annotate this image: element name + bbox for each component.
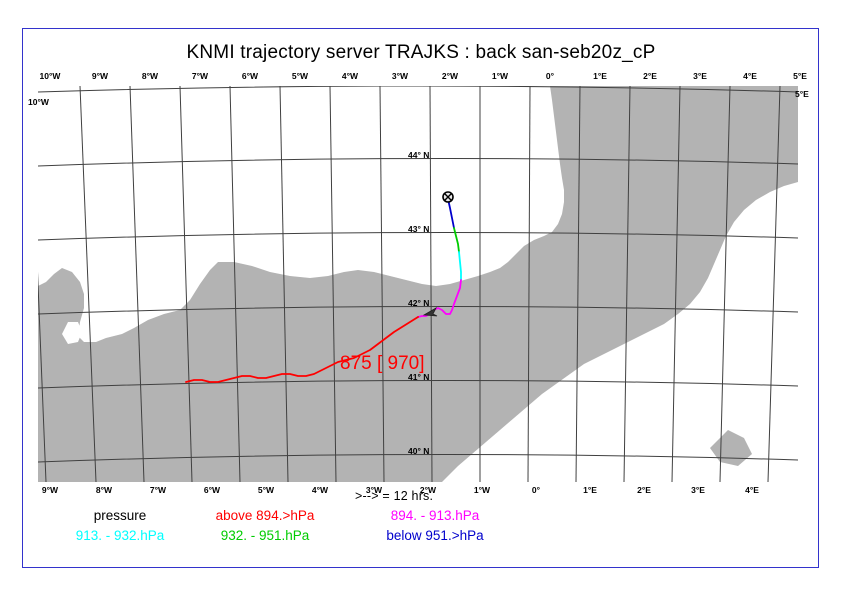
axis-bottom-tick-13: 4°E — [745, 485, 759, 495]
legend-item-913-932: 913. - 932.hPa — [60, 528, 180, 543]
axis-top-tick-7: 3°W — [392, 71, 408, 81]
axis-bottom-tick-1: 8°W — [96, 485, 112, 495]
axis-top: 10°W 9°W 8°W 7°W 6°W 5°W 4°W 3°W 2°W 1°W… — [0, 71, 842, 83]
axis-bottom-tick-4: 5°W — [258, 485, 274, 495]
legend-item-pressure: pressure — [60, 508, 180, 523]
axis-bottom-tick-12: 3°E — [691, 485, 705, 495]
axis-top-tick-2: 8°W — [142, 71, 158, 81]
axis-bottom-tick-8: 1°W — [474, 485, 490, 495]
trajectory-map[interactable]: 44° N 43° N 42° N 41° N 40° N — [38, 86, 798, 482]
legend-row-2: 913. - 932.hPa 932. - 951.hPa below 951.… — [60, 528, 520, 548]
traj-start-marker[interactable] — [443, 192, 453, 202]
scale-note: >--> = 12 hrs. — [355, 489, 433, 503]
axis-bottom-tick-11: 2°E — [637, 485, 651, 495]
legend-item-932-951: 932. - 951.hPa — [180, 528, 350, 543]
lat-label-44n: 44° N — [408, 150, 429, 160]
axis-top-tick-13: 3°E — [693, 71, 707, 81]
axis-top-tick-14: 4°E — [743, 71, 757, 81]
legend-item-894-913: 894. - 913.hPa — [350, 508, 520, 523]
lat-label-40n: 40° N — [408, 446, 429, 456]
axis-top-tick-3: 7°W — [192, 71, 208, 81]
axis-top-tick-0: 10°W — [40, 71, 61, 81]
legend-item-above-894: above 894.>hPa — [180, 508, 350, 523]
legend-item-below-951: below 951.>hPa — [350, 528, 520, 543]
axis-bottom-tick-5: 4°W — [312, 485, 328, 495]
axis-bottom-tick-0: 9°W — [42, 485, 58, 495]
axis-left-edge-label: 10°W — [28, 97, 49, 107]
axis-bottom-tick-3: 6°W — [204, 485, 220, 495]
axis-top-tick-9: 1°W — [492, 71, 508, 81]
axis-top-tick-12: 2°E — [643, 71, 657, 81]
axis-bottom-tick-10: 1°E — [583, 485, 597, 495]
pressure-annotation: 875 [ 970] — [340, 353, 425, 375]
axis-bottom-tick-9: 0° — [532, 485, 540, 495]
axis-top-tick-5: 5°W — [292, 71, 308, 81]
lat-label-42n: 42° N — [408, 298, 429, 308]
pressure-legend: pressure above 894.>hPa 894. - 913.hPa 9… — [60, 508, 520, 548]
screenshot-root: KNMI trajectory server TRAJKS : back san… — [0, 0, 842, 596]
axis-top-tick-10: 0° — [546, 71, 554, 81]
axis-top-tick-4: 6°W — [242, 71, 258, 81]
axis-top-tick-6: 4°W — [342, 71, 358, 81]
page-title: KNMI trajectory server TRAJKS : back san… — [0, 42, 842, 64]
axis-top-tick-8: 2°W — [442, 71, 458, 81]
axis-top-tick-1: 9°W — [92, 71, 108, 81]
axis-top-tick-15: 5°E — [793, 71, 807, 81]
lat-label-43n: 43° N — [408, 224, 429, 234]
axis-right-edge-label: 5°E — [795, 89, 809, 99]
axis-top-tick-11: 1°E — [593, 71, 607, 81]
axis-bottom-tick-2: 7°W — [150, 485, 166, 495]
legend-row-1: pressure above 894.>hPa 894. - 913.hPa — [60, 508, 520, 528]
